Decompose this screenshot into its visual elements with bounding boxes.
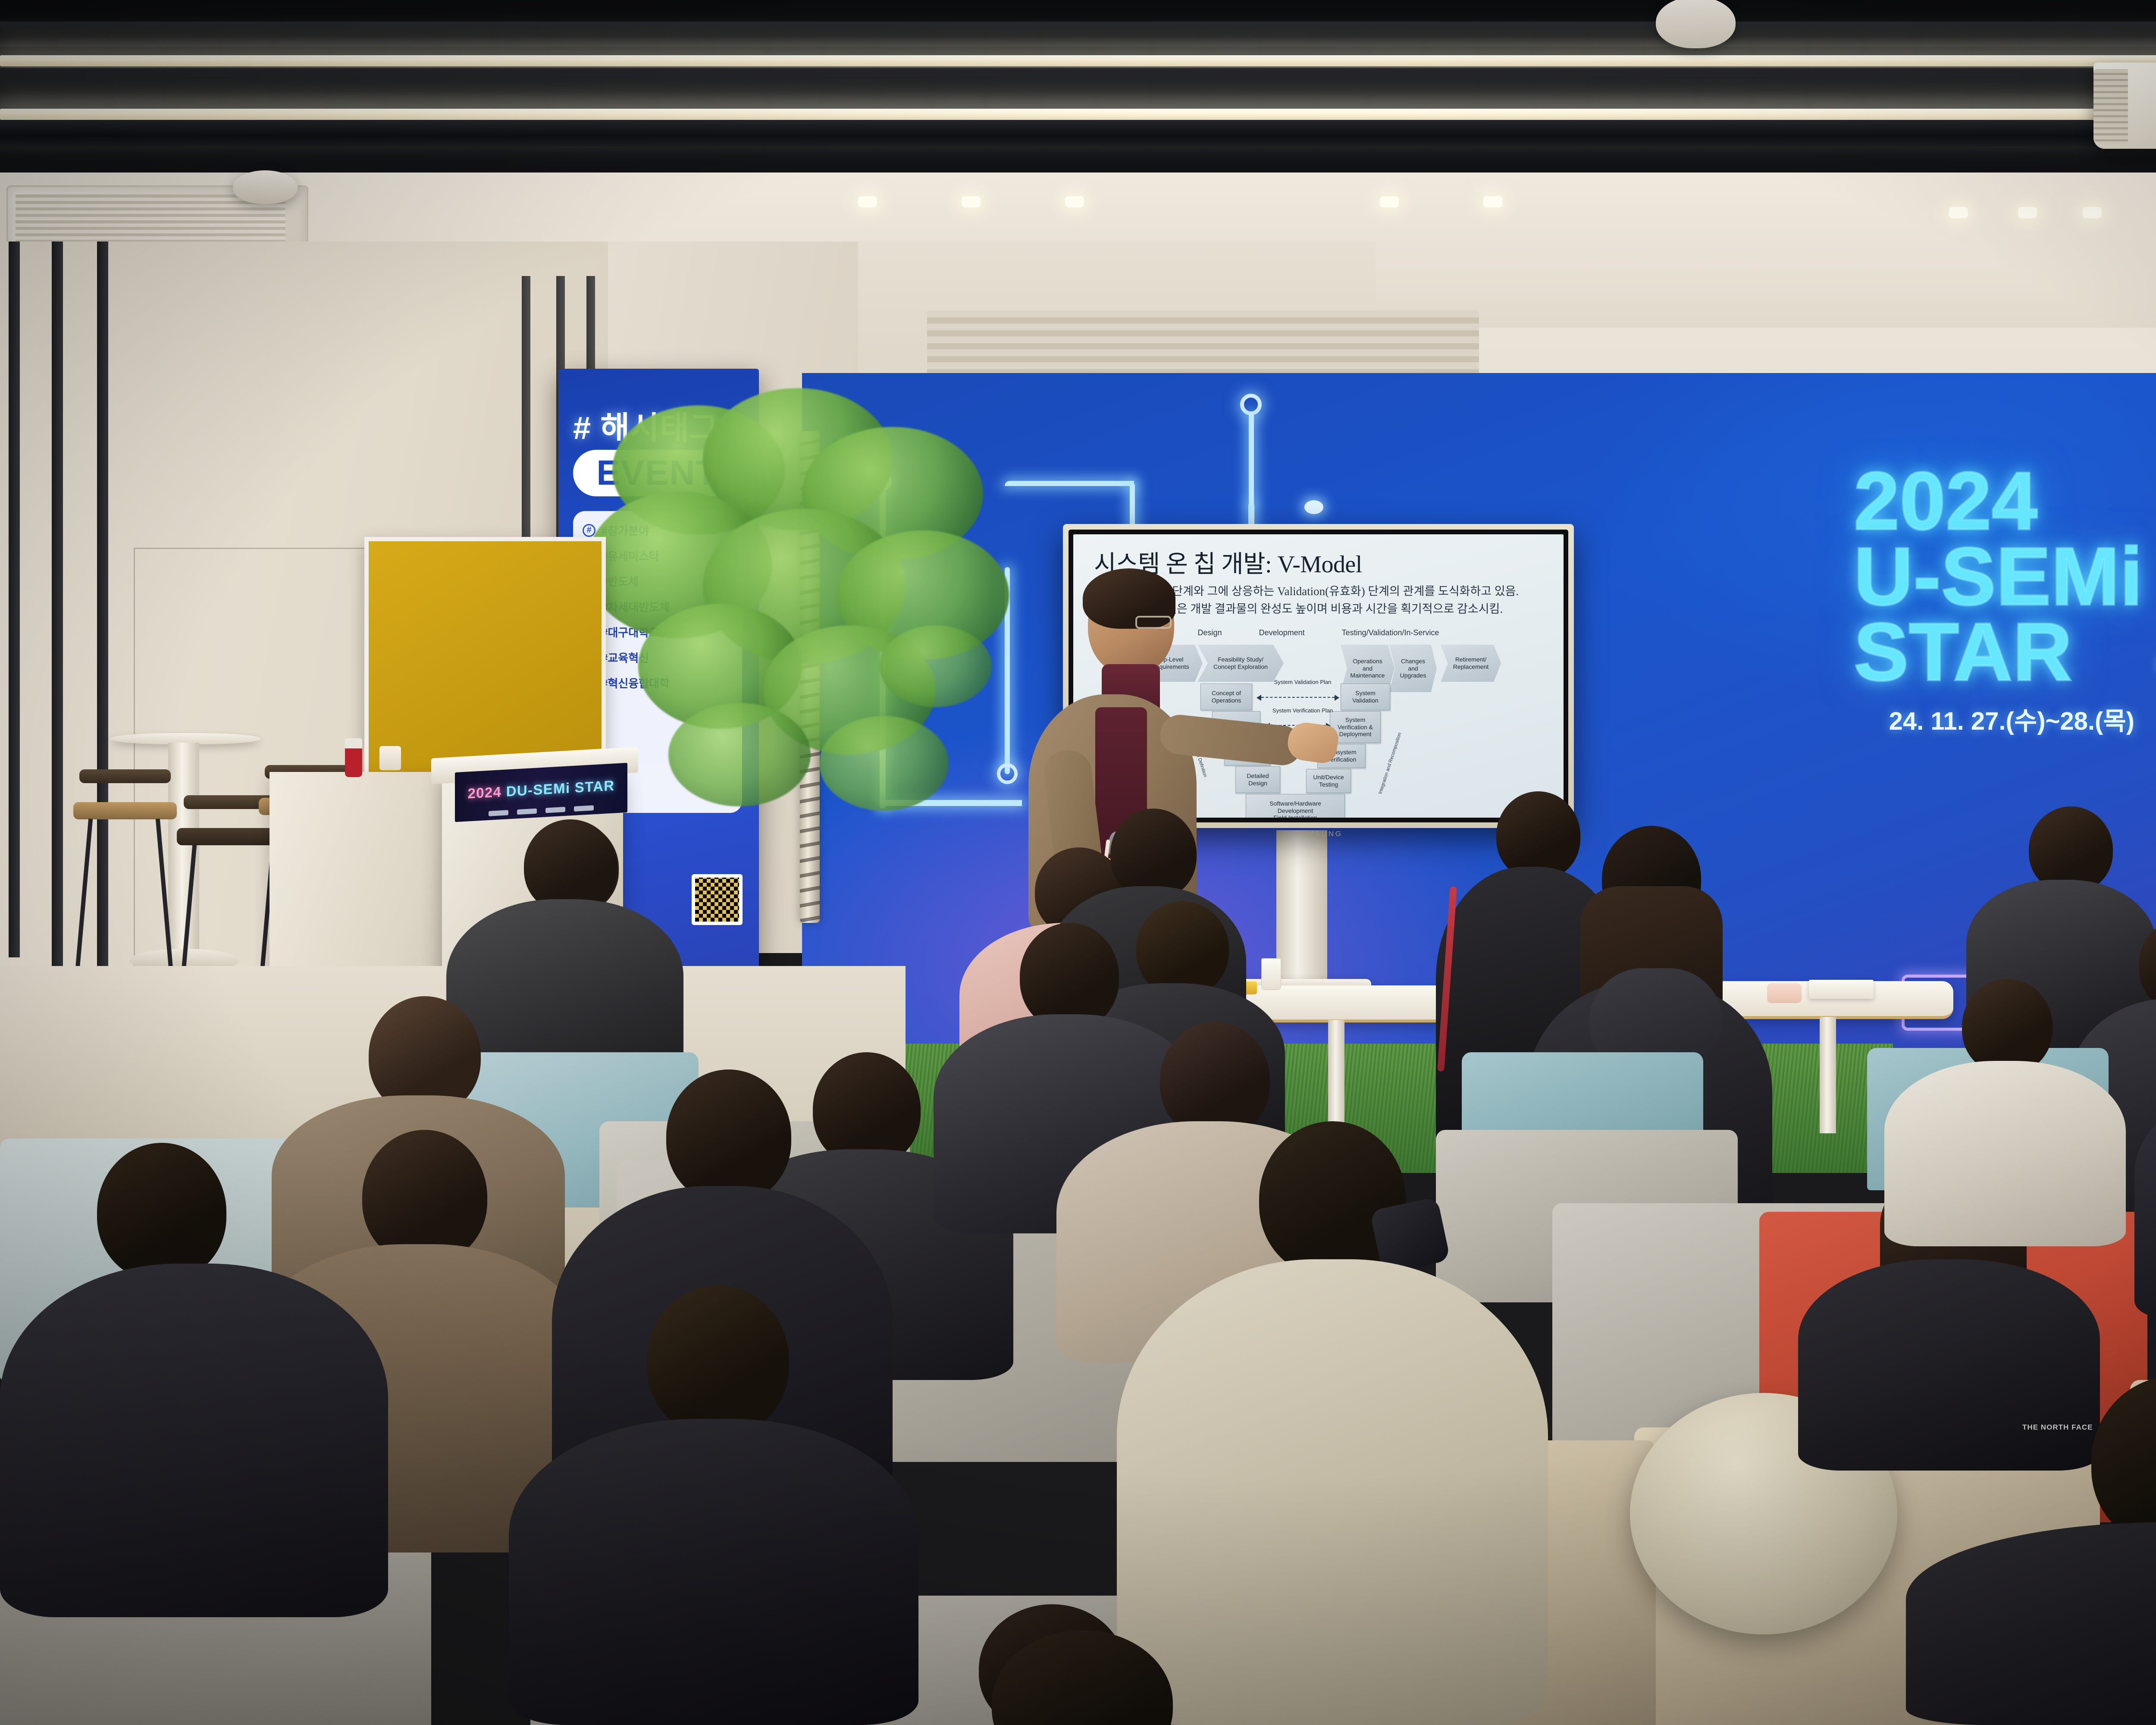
hash-bullet-icon	[583, 524, 595, 537]
display-brand-label: SAMSUNG	[1294, 830, 1342, 838]
audience-member	[0, 1143, 388, 1617]
backdrop-date: 24. 11. 27.(수)~28.(목)	[1889, 701, 2134, 737]
neon-line	[1005, 481, 1134, 486]
list-item: #참가분야	[583, 522, 733, 538]
audience-member	[1884, 979, 2126, 1246]
led-strip	[0, 109, 2156, 120]
person-head	[1110, 809, 1197, 899]
vmodel-step-unit-device-testing: Unit/Device Testing	[1306, 769, 1351, 793]
downlight	[2018, 207, 2037, 218]
downlight	[1380, 196, 1399, 207]
qr-code-icon	[692, 874, 743, 925]
list-item-label: #유세미스타	[602, 548, 659, 564]
lectern-sign-name: DU-SEMi STAR	[506, 777, 615, 799]
neon-ring	[997, 763, 1018, 784]
list-item-label: #교육혁신	[602, 649, 649, 665]
banner-hashtag-label: # 해시태그	[573, 402, 719, 448]
seminar-room-photo: EPSON 차세대 반도체 혁신융합대학	[0, 0, 2156, 1725]
vmodel-arrow	[1261, 697, 1335, 698]
wall-slat	[97, 241, 108, 975]
wall-slat	[52, 241, 63, 970]
lectern-sign: 2024 DU-SEMi STAR	[455, 763, 627, 822]
snack-plate	[1767, 983, 1802, 1003]
decorative-tree-trunk	[800, 431, 820, 923]
list-item-label: #혁신융합대학	[602, 675, 670, 691]
backdrop-title: 2024 U-SEMi STAR	[1854, 464, 2143, 690]
lectern-sponsor-logos	[489, 805, 594, 816]
vmodel-step-software-hardware-development: Software/Hardware Development Field Inst…	[1246, 794, 1345, 818]
downlight	[858, 196, 877, 207]
neon-dot	[1304, 500, 1323, 514]
list-item-label: #차세대반도체	[602, 599, 670, 615]
person-padded-coat	[1906, 1522, 2156, 1725]
ceiling-speaker	[233, 170, 298, 204]
person-head	[992, 1630, 1173, 1725]
bar-stool[interactable]	[73, 802, 177, 819]
person-suit	[0, 1264, 388, 1617]
downlight	[1949, 207, 1968, 218]
backdrop-title-line-3: STAR	[1854, 615, 2143, 690]
downlight	[962, 196, 981, 207]
list-item-label: #대구대학교	[602, 624, 659, 640]
sponsor-logo	[574, 805, 594, 812]
downlight	[1065, 196, 1084, 207]
paper-cup	[379, 746, 401, 770]
drink-cup	[345, 738, 362, 777]
audience-member	[914, 1630, 1250, 1725]
person-torso	[509, 1419, 918, 1725]
neon-line	[1249, 413, 1254, 505]
sponsor-logo	[545, 807, 565, 813]
stool-backrest	[79, 769, 170, 783]
vmodel-label-system-validation-plan: System Validation Plan	[1260, 679, 1346, 686]
neon-line	[880, 800, 1022, 806]
person-head	[647, 1285, 789, 1436]
person-head	[1020, 923, 1119, 1030]
projector-vent-fins	[2093, 69, 2128, 144]
lectern-sign-text: 2024 DU-SEMi STAR	[468, 777, 615, 802]
glasses-icon	[1135, 616, 1172, 629]
phase-header-testing: Testing/Validation/In-Service	[1342, 628, 1439, 637]
sponsor-logo	[517, 809, 537, 815]
wall-slat	[9, 241, 20, 957]
backdrop-title-line-2: U-SEMi	[1854, 539, 2143, 615]
vmodel-step-system-validation: System Validation	[1341, 684, 1390, 710]
ceiling-rail	[0, 120, 2156, 147]
person-head	[1962, 979, 2053, 1074]
person-head	[666, 1069, 791, 1203]
list-item-label: #반도체	[602, 573, 639, 589]
person-head	[97, 1143, 226, 1281]
banner-event-label: EVENT	[573, 450, 741, 496]
neon-line	[1005, 567, 1010, 774]
list-item-label: #참가분야	[602, 522, 649, 538]
vmodel-chevron-retirement-replacement: Retirement/ Replacement	[1441, 645, 1501, 682]
open-brochure	[1809, 980, 1874, 999]
led-strip	[0, 55, 2156, 66]
ceiling-rail	[0, 68, 2156, 108]
person-fleece-jacket	[2134, 1085, 2156, 1320]
vmodel-chevron-changes-upgrades: Changes and Upgrades	[1389, 645, 1437, 692]
downlight	[2083, 207, 2102, 218]
vmodel-axis-integration: Integration and Recomposition	[1378, 732, 1403, 795]
audience-member	[2134, 992, 2156, 1320]
audience-member	[509, 1285, 918, 1725]
audience-member	[1906, 1376, 2156, 1725]
person-light-hoodie	[1884, 1061, 2126, 1246]
lectern-sign-year: 2024	[468, 784, 502, 801]
vmodel-step-detailed-design: Detailed Design	[1235, 766, 1280, 793]
neon-ring	[1240, 394, 1262, 415]
downlight	[1483, 196, 1502, 207]
ceiling-rail	[0, 22, 2156, 47]
stool-seat	[73, 802, 177, 819]
backdrop-title-line-1: 2024	[1854, 464, 2143, 539]
phase-header-development: Development	[1259, 628, 1305, 637]
vmodel-label-system-verification-plan: System Verification Plan	[1260, 708, 1346, 714]
ceiling-speaker	[1656, 0, 1736, 48]
neon-dot	[874, 473, 892, 490]
neon-line	[880, 481, 886, 809]
